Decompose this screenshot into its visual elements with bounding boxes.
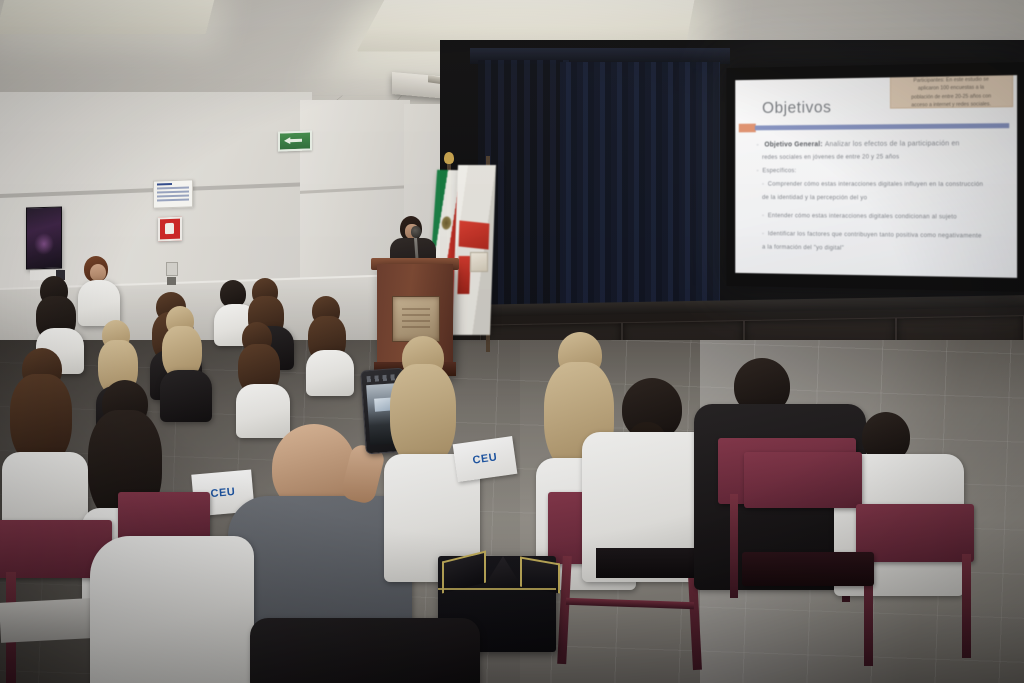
attendee-torso [160,370,212,422]
slide-bullet: Específicos: [757,166,1008,177]
slide-bullet: Identificar los factores que contribuyen… [762,229,1007,242]
auditorium-photo: Objetivos Objetivo General: Analizar los… [0,0,1024,683]
ceu-logo: CEU [210,486,236,500]
microphone-icon [411,226,421,238]
ceu-logo: CEU [472,451,498,466]
ceiling-light-panel-left [0,0,214,34]
slide-bullet-label: Objetivo General: [764,139,822,148]
slide-note-line: acceso a internet y redes sociales. [895,100,1009,108]
wall-outlet [166,262,178,276]
attendee-hair-fall [390,364,456,468]
attendee-torso [250,618,480,683]
slide-bullet-cont: redes sociales en jóvenes de entre 20 y … [762,152,1007,163]
chair-leg [962,554,971,658]
emergency-exit-icon [278,130,312,151]
slide-bullet: Entender cómo estas interacciones digita… [762,211,1007,223]
slide-divider-bar [755,123,1009,130]
attendee-torso [236,384,290,438]
slide-bullet: Comprender cómo estas interacciones digi… [762,180,1007,191]
stage-curtain [560,62,720,322]
institutional-flag-icon [452,165,496,335]
slide-bullet: Objetivo General: Analizar los efectos d… [757,137,1008,150]
slide-note-box: Participantes: En este estudio se aplica… [890,75,1013,109]
chair-seat [742,552,874,586]
attendee-torso [306,350,354,396]
projection-screen: Objetivos Objetivo General: Analizar los… [726,62,1024,292]
chair-back [744,452,862,508]
flag-red-stripe [457,256,470,294]
fire-extinguisher-icon [158,217,182,242]
wall-vent [167,277,176,285]
presentation-slide: Objetivos Objetivo General: Analizar los… [735,75,1017,278]
slide-bullet-text: Analizar los efectos de la participación… [825,138,960,148]
flag-finial [444,152,454,164]
attendee-torso [90,536,254,683]
slide-bullet-list: Objetivo General: Analizar los efectos d… [757,137,1008,259]
bag-trim [438,588,556,590]
slide-accent-square [739,124,756,133]
podium-plaque [392,296,440,342]
slide-bullet-cont: a la formación del "yo digital" [762,242,1007,256]
slide-title: Objetivos [762,98,831,118]
wall-notice-sheet [153,179,193,208]
event-poster [26,207,62,270]
attendee-face [90,264,106,281]
flag-red-detail [459,220,490,249]
chair-leg [730,494,738,598]
chair-seat [596,548,700,578]
slide-bullet-cont: de la identidad y la percepción del yo [762,193,1007,205]
flag-crest [470,252,488,272]
